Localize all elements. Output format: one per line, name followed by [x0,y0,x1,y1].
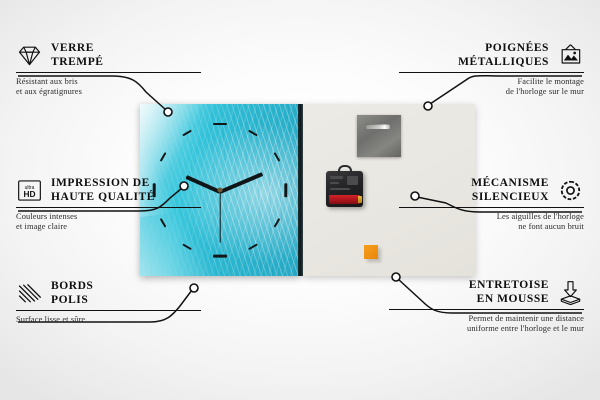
feature-subtitle-line2: et image claire [16,222,67,231]
feature-title-line1: POIGNÉES [485,42,549,54]
divider [389,309,584,310]
clock-hour-mark [213,255,227,258]
feature-subtitle-line2: uniforme entre l'horloge et le mur [467,324,584,333]
feature-title-line1: VERRE [51,42,94,54]
divider [399,207,584,208]
foam-spacer [364,245,378,259]
feature-title-line2: HAUTE QUALITÉ [51,191,155,203]
mechanism-hanging-loop [338,165,352,174]
feature-subtitle-line2: de l'horloge sur le mur [506,87,584,96]
hanger-slot [366,124,390,129]
feature-title-line2: EN MOUSSE [477,293,549,305]
feature-subtitle-line1: Permet de maintenir une distance [469,314,584,323]
feature-subtitle-line2: et aux égratignures [16,87,82,96]
clock-center-pin [218,188,223,193]
clock-hour-mark [213,123,227,126]
divider [16,72,201,73]
feature-verre-trempe: VERRE TREMPÉ Résistant aux bris et aux é… [16,42,201,98]
divider [16,207,201,208]
divider [16,310,201,311]
feature-title-line1: BORDS [51,280,93,292]
mechanism-detail [330,188,350,190]
wall-frame-icon [557,43,584,68]
feature-bords-polis: BORDS POLIS Surface lisse et sûre [16,280,201,325]
feature-title-line2: MÉTALLIQUES [458,56,549,68]
clock-mechanism [326,171,363,207]
gear-icon [557,178,584,203]
feature-entretoise-en-mousse: ENTRETOISE EN MOUSSE Permet de maintenir… [389,279,584,335]
feature-subtitle-line1: Surface lisse et sûre [16,315,85,324]
clock-hour-mark [285,183,288,197]
divider [399,72,584,73]
feature-subtitle-line1: Facilite le montage [518,77,584,86]
mechanism-detail [330,176,343,179]
feature-title-line1: MÉCANISME [471,177,549,189]
polished-edge-icon [16,281,43,306]
feature-subtitle-line1: Résistant aux bris [16,77,78,86]
feature-title-line2: POLIS [51,294,88,306]
mechanism-detail [347,176,358,185]
metal-hanger-plate [357,115,401,157]
feature-title-line2: SILENCIEUX [472,191,549,203]
feature-poignees-metalliques: POIGNÉES MÉTALLIQUES Facilite le montage… [399,42,584,98]
foam-spacer-icon [557,280,584,305]
feature-mecanisme-silencieux: MÉCANISME SILENCIEUX Les aiguilles de l'… [399,177,584,233]
feature-title-line2: TREMPÉ [51,56,104,68]
mechanism-detail [330,182,339,184]
diamond-icon [16,43,43,68]
clock-second-hand [219,191,220,243]
battery [329,195,360,204]
ultra-hd-icon: ultra HD [16,178,43,203]
feature-subtitle-line1: Les aiguilles de l'horloge [497,212,584,221]
feature-subtitle-line1: Couleurs intenses [16,212,77,221]
svg-text:HD: HD [23,189,35,199]
feature-impression-haute-qualite: ultra HD IMPRESSION DE HAUTE QUALITÉ Cou… [16,177,201,233]
feature-subtitle-line2: ne font aucun bruit [518,222,584,231]
feature-title-line1: IMPRESSION DE [51,177,150,189]
feature-title-line1: ENTRETOISE [469,279,549,291]
